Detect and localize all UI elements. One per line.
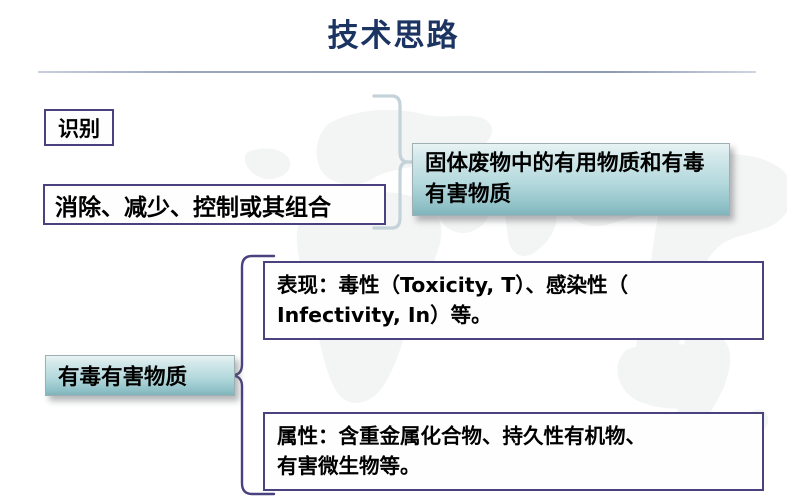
slide-canvas: 技术思路 识别 消除、减少、控制或其组合 有毒有害物质 固体废物中的有用物质和有… xyxy=(0,0,787,498)
manifestation-box-text: 表现：毒性（Toxicity, T）、感染性（ Infectivity, In）… xyxy=(277,271,628,329)
identify-box-label: 识别 xyxy=(58,113,100,143)
identify-box[interactable]: 识别 xyxy=(44,109,114,146)
title-divider xyxy=(38,71,756,73)
attribute-box[interactable]: 属性：含重金属化合物、持久性有机物、 有害微生物等。 xyxy=(263,412,764,491)
attribute-line-2: 有害微生物等。 xyxy=(277,452,646,481)
manifestation-line-2: Infectivity, In）等。 xyxy=(277,301,628,330)
useful-box-label: 固体废物中的有用物质和有毒有害物质 xyxy=(425,149,723,209)
toxic-box-label: 有毒有害物质 xyxy=(58,360,187,391)
toxic-harmful-substances-box[interactable]: 有毒有害物质 xyxy=(45,355,235,396)
attribute-line-1: 属性：含重金属化合物、持久性有机物、 xyxy=(277,422,646,451)
manifestation-line-1: 表现：毒性（Toxicity, T）、感染性（ xyxy=(277,271,628,300)
manifestation-box[interactable]: 表现：毒性（Toxicity, T）、感染性（ Infectivity, In）… xyxy=(263,261,764,340)
page-title: 技术思路 xyxy=(0,10,787,55)
attribute-box-text: 属性：含重金属化合物、持久性有机物、 有害微生物等。 xyxy=(277,422,646,480)
eliminate-box-label: 消除、减少、控制或其组合 xyxy=(55,188,331,222)
eliminate-reduce-control-box[interactable]: 消除、减少、控制或其组合 xyxy=(43,184,386,225)
useful-and-toxic-substances-box[interactable]: 固体废物中的有用物质和有毒有害物质 xyxy=(412,143,730,216)
